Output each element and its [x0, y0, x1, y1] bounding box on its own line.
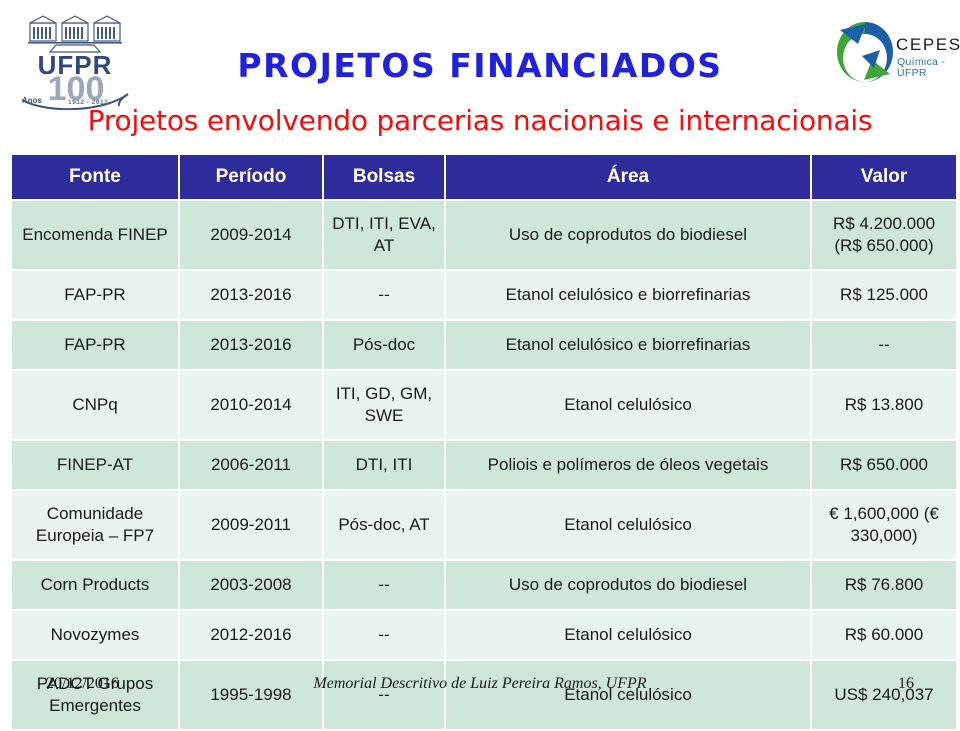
- cepesq-wordmark: CEPESQ: [896, 36, 960, 53]
- projects-table-container: Fonte Período Bolsas Área Valor Encomend…: [12, 155, 948, 729]
- cell-fonte: FAP-PR: [12, 271, 178, 319]
- cell-area: Etanol celulósico e biorrefinarias: [446, 271, 810, 319]
- cepesq-circular-arrows-icon: [832, 16, 898, 88]
- cepesq-logo: CEPESQ Química - UFPR: [832, 14, 952, 98]
- ufpr-building-icon: [28, 14, 122, 54]
- slide-footer: 20/12/2016 Memorial Descritivo de Luiz P…: [0, 672, 960, 706]
- cell-area: Uso de coprodutos do biodiesel: [446, 561, 810, 609]
- cell-bolsas: --: [324, 611, 444, 659]
- cell-valor: R$ 650.000: [812, 441, 956, 489]
- cell-fonte: Encomenda FINEP: [12, 201, 178, 269]
- cell-valor: R$ 4.200.000 (R$ 650.000): [812, 201, 956, 269]
- cell-valor: € 1,600,000 (€ 330,000): [812, 491, 956, 559]
- table-row: Novozymes 2012-2016 -- Etanol celulósico…: [12, 611, 956, 659]
- cepesq-subtitle: Química - UFPR: [897, 57, 952, 79]
- cell-periodo: 2010-2014: [180, 371, 322, 439]
- ufpr-logo: 100 UFPR Anos 1912 - 2012: [16, 14, 134, 106]
- cell-area: Etanol celulósico: [446, 611, 810, 659]
- table-header-row: Fonte Período Bolsas Área Valor: [12, 155, 956, 199]
- cell-periodo: 2009-2011: [180, 491, 322, 559]
- cell-fonte: Comunidade Europeia – FP7: [12, 491, 178, 559]
- cell-valor: R$ 76.800: [812, 561, 956, 609]
- table-header: Fonte Período Bolsas Área Valor: [12, 155, 956, 199]
- column-header-fonte: Fonte: [12, 155, 178, 199]
- slide-subtitle: Projetos envolvendo parcerias nacionais …: [30, 104, 930, 137]
- cell-periodo: 2013-2016: [180, 271, 322, 319]
- column-header-bolsas: Bolsas: [324, 155, 444, 199]
- column-header-area: Área: [446, 155, 810, 199]
- cell-bolsas: Pós-doc: [324, 321, 444, 369]
- projects-table: Fonte Período Bolsas Área Valor Encomend…: [10, 153, 958, 731]
- cell-periodo: 2006-2011: [180, 441, 322, 489]
- cell-periodo: 2009-2014: [180, 201, 322, 269]
- cell-area: Uso de coprodutos do biodiesel: [446, 201, 810, 269]
- cell-valor: R$ 125.000: [812, 271, 956, 319]
- cell-bolsas: DTI, ITI, EVA, AT: [324, 201, 444, 269]
- cell-valor: --: [812, 321, 956, 369]
- cell-bolsas: --: [324, 561, 444, 609]
- slide-title: PROJETOS FINANCIADOS: [150, 46, 810, 85]
- footer-page-number: 16: [898, 675, 914, 693]
- cell-bolsas: DTI, ITI: [324, 441, 444, 489]
- cell-valor: R$ 13.800: [812, 371, 956, 439]
- cell-periodo: 2013-2016: [180, 321, 322, 369]
- cell-fonte: Novozymes: [12, 611, 178, 659]
- cell-area: Etanol celulósico: [446, 371, 810, 439]
- column-header-periodo: Período: [180, 155, 322, 199]
- table-row: FAP-PR 2013-2016 Pós-doc Etanol celulósi…: [12, 321, 956, 369]
- cell-periodo: 2012-2016: [180, 611, 322, 659]
- table-row: CNPq 2010-2014 ITI, GD, GM, SWE Etanol c…: [12, 371, 956, 439]
- cell-bolsas: --: [324, 271, 444, 319]
- slide-header: 100 UFPR Anos 1912 - 2012 PROJETOS FINAN…: [0, 0, 960, 152]
- table-body: Encomenda FINEP 2009-2014 DTI, ITI, EVA,…: [12, 201, 956, 729]
- table-row: Corn Products 2003-2008 -- Uso de coprod…: [12, 561, 956, 609]
- cell-area: Etanol celulósico: [446, 491, 810, 559]
- table-row: Comunidade Europeia – FP7 2009-2011 Pós-…: [12, 491, 956, 559]
- cell-valor: R$ 60.000: [812, 611, 956, 659]
- table-row: Encomenda FINEP 2009-2014 DTI, ITI, EVA,…: [12, 201, 956, 269]
- cell-fonte: Corn Products: [12, 561, 178, 609]
- cell-bolsas: Pós-doc, AT: [324, 491, 444, 559]
- cell-bolsas: ITI, GD, GM, SWE: [324, 371, 444, 439]
- table-row: FAP-PR 2013-2016 -- Etanol celulósico e …: [12, 271, 956, 319]
- cell-periodo: 2003-2008: [180, 561, 322, 609]
- cell-area: Etanol celulósico e biorrefinarias: [446, 321, 810, 369]
- cell-fonte: FAP-PR: [12, 321, 178, 369]
- table-row: FINEP-AT 2006-2011 DTI, ITI Poliois e po…: [12, 441, 956, 489]
- cell-fonte: CNPq: [12, 371, 178, 439]
- column-header-valor: Valor: [812, 155, 956, 199]
- cell-fonte: FINEP-AT: [12, 441, 178, 489]
- ufpr-wordmark: UFPR: [23, 52, 127, 78]
- cell-area: Poliois e polímeros de óleos vegetais: [446, 441, 810, 489]
- footer-description: Memorial Descritivo de Luiz Pereira Ramo…: [0, 675, 960, 693]
